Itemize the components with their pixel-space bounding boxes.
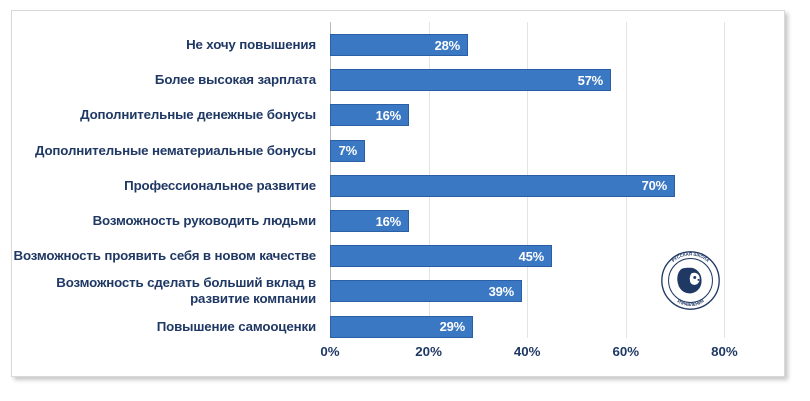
bar-row[interactable]: 28% — [330, 34, 725, 56]
bar[interactable]: 39% — [330, 280, 522, 302]
bar[interactable]: 16% — [330, 104, 409, 126]
bar[interactable]: 7% — [330, 140, 365, 162]
category-label: Возможность сделать больший вклад в разв… — [12, 275, 316, 307]
watermark-logo: РУССКАЯ ШКОЛА УПРАВЛЕНИЯ — [660, 250, 721, 311]
bar-value-label: 16% — [376, 108, 408, 123]
bar-value-label: 70% — [642, 178, 674, 193]
bar-row[interactable]: 7% — [330, 140, 725, 162]
bar-value-label: 7% — [339, 143, 364, 158]
bar[interactable]: 45% — [330, 245, 552, 267]
category-label: Не хочу повышения — [12, 37, 316, 53]
svg-text:РУССКАЯ ШКОЛА: РУССКАЯ ШКОЛА — [671, 251, 711, 263]
x-tick-label: 40% — [514, 344, 541, 359]
chart-frame: Не хочу повышенияБолее высокая зарплатаД… — [11, 10, 785, 377]
bar-row[interactable]: 16% — [330, 210, 725, 232]
bar-value-label: 29% — [440, 319, 472, 334]
x-tick-label: 80% — [711, 344, 738, 359]
bar-row[interactable]: 57% — [330, 69, 725, 91]
bar-value-label: 28% — [435, 38, 467, 53]
bar[interactable]: 70% — [330, 175, 675, 197]
bar-row[interactable]: 29% — [330, 316, 725, 338]
bar-value-label: 16% — [376, 214, 408, 229]
bar[interactable]: 29% — [330, 316, 473, 338]
bar-row[interactable]: 16% — [330, 104, 725, 126]
bar[interactable]: 28% — [330, 34, 468, 56]
category-label: Более высокая зарплата — [12, 72, 316, 88]
bar[interactable]: 16% — [330, 210, 409, 232]
x-tick-label: 60% — [612, 344, 639, 359]
category-label: Повышение самооценки — [12, 319, 316, 335]
x-tick-label: 0% — [320, 344, 339, 359]
category-label-column: Не хочу повышенияБолее высокая зарплатаД… — [12, 22, 324, 338]
bar-row[interactable]: 70% — [330, 175, 725, 197]
bar-value-label: 45% — [519, 249, 551, 264]
category-label: Возможность руководить людьми — [12, 213, 316, 229]
category-label: Дополнительные денежные бонусы — [12, 107, 316, 123]
category-label: Дополнительные нематериальные бонусы — [12, 143, 316, 159]
svg-text:УПРАВЛЕНИЯ: УПРАВЛЕНИЯ — [676, 298, 705, 307]
x-tick-label: 20% — [415, 344, 442, 359]
bar[interactable]: 57% — [330, 69, 611, 91]
bar-value-label: 57% — [578, 73, 610, 88]
category-label: Профессиональное развитие — [12, 178, 316, 194]
category-label: Возможность проявить себя в новом качест… — [12, 248, 316, 264]
bar-value-label: 39% — [489, 284, 521, 299]
